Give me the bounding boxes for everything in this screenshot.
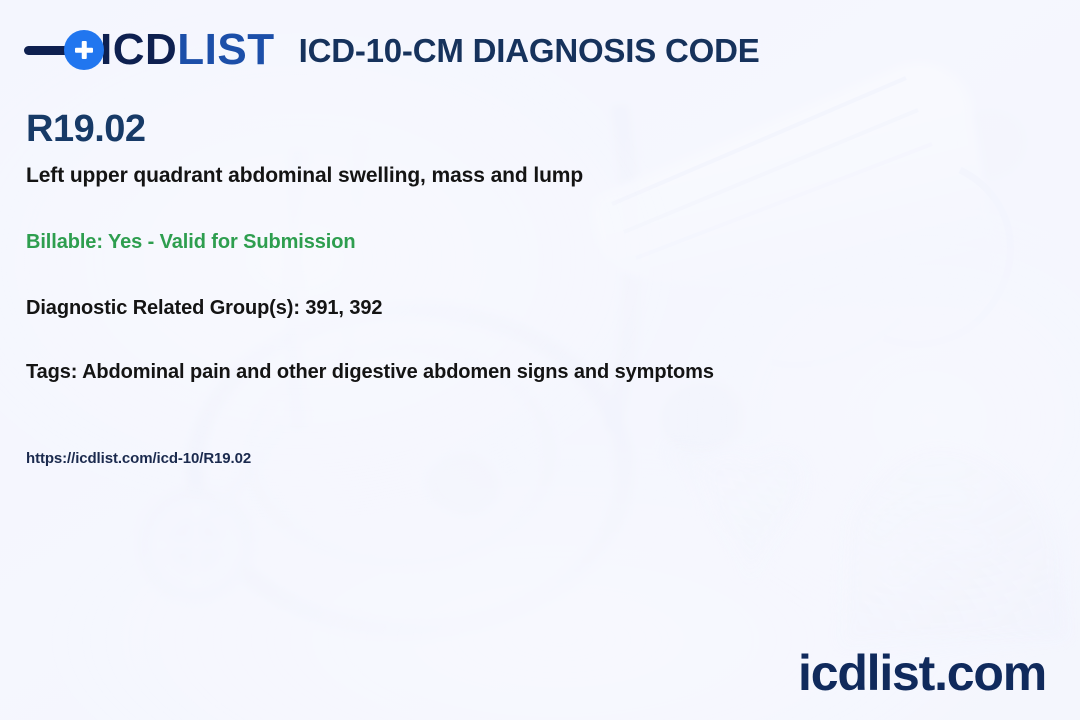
hand-icon	[840, 447, 1070, 648]
drg-line: Diagnostic Related Group(s): 391, 392	[26, 295, 1036, 321]
logo-wordmark-secondary: LIST	[177, 25, 274, 74]
page-header: ICDLIST ICD-10-CM DIAGNOSIS CODE	[0, 0, 1080, 100]
source-url-link[interactable]: https://icdlist.com/icd-10/R19.02	[26, 449, 251, 469]
plus-icon	[64, 30, 104, 70]
billable-status-badge: Billable: Yes - Valid for Submission	[26, 229, 1036, 255]
code-details: R19.02 Left upper quadrant abdominal swe…	[26, 108, 1036, 468]
footer-brand: icdlist.com	[798, 648, 1046, 698]
icdlist-logo[interactable]: ICDLIST	[24, 24, 275, 76]
page-title: ICD-10-CM DIAGNOSIS CODE	[299, 34, 760, 67]
logo-wordmark-primary: ICD	[100, 25, 177, 74]
icd-code: R19.02	[26, 108, 1036, 152]
icd-code-description: Left upper quadrant abdominal swelling, …	[26, 162, 1036, 189]
tags-line: Tags: Abdominal pain and other digestive…	[26, 359, 1036, 385]
logo-wordmark: ICDLIST	[100, 28, 275, 72]
icd-code-card: ICDLIST ICD-10-CM DIAGNOSIS CODE R19.02 …	[0, 0, 1080, 720]
